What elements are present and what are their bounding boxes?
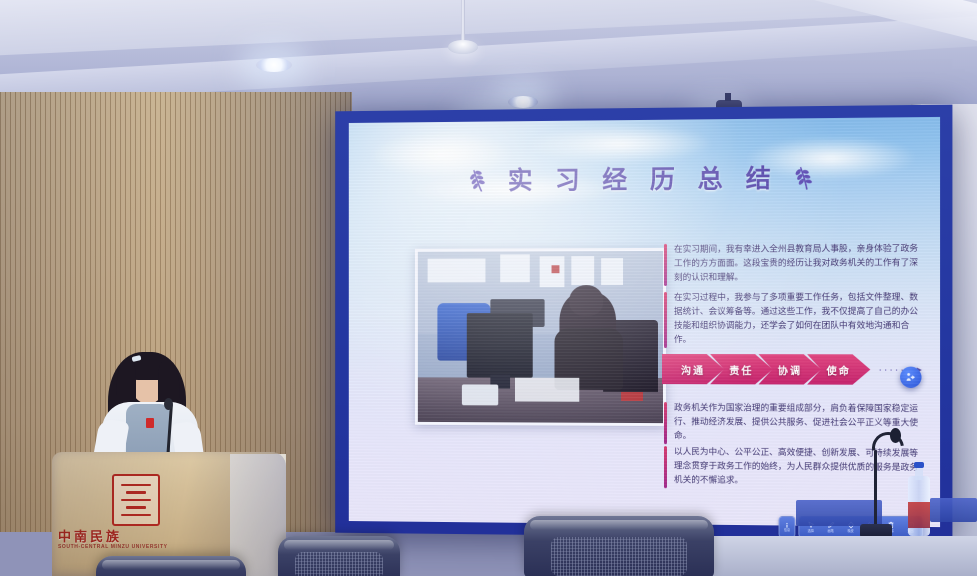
photo-paper — [501, 255, 530, 282]
toolbar-info-button[interactable]: 信息 — [779, 516, 796, 538]
presenter — [96, 346, 206, 466]
bottle-neck — [915, 466, 923, 480]
microphone-capsule — [890, 428, 901, 443]
chair-mesh — [295, 552, 383, 576]
paragraph-accent-bar — [664, 244, 667, 286]
slide-title-text: 实 习 经 历 总 结 — [508, 164, 778, 195]
chair-highlight — [284, 540, 394, 550]
photo-calculator — [462, 385, 499, 406]
photo-paper — [572, 256, 594, 285]
paragraph-accent-bar — [664, 292, 667, 348]
paragraph-accent-bar — [664, 446, 667, 488]
audience-chair — [524, 516, 714, 576]
chair-highlight — [102, 560, 240, 570]
photo-monitor — [466, 313, 532, 378]
ceiling-downlight — [508, 96, 538, 108]
slide-paragraph-1: 在实习期间，我有幸进入全州县教育局人事股，亲身体验了政务工作的方方面面。这段宝贵… — [664, 243, 926, 286]
chair-mesh — [551, 537, 688, 575]
chair-highlight — [530, 520, 708, 530]
slide-title: 实 习 经 历 总 结 — [349, 158, 940, 199]
paragraph-accent-bar — [664, 402, 667, 444]
process-step-label: 使命 — [826, 362, 850, 377]
paragraph-text: 在实习过程中，我参与了多项重要工作任务，包括文件整理、数据统计、会议筹备等。通过… — [674, 292, 926, 348]
paragraph-text: 在实习期间，我有幸进入全州县教育局人事股，亲身体验了政务工作的方方面面。这段宝贵… — [674, 243, 926, 286]
photo-paper — [601, 258, 623, 286]
photo-paper — [428, 258, 486, 282]
photo-desk-paper — [515, 378, 579, 402]
lecture-hall-screenshot: 实 习 经 历 总 结 — [0, 0, 977, 576]
toolbar-item-label: 画笔 — [827, 530, 833, 533]
process-step-label: 协调 — [778, 362, 802, 377]
water-bottle — [908, 462, 930, 536]
toolbar-item-label: 橡皮 — [847, 530, 853, 533]
process-chevron-row: 沟通 责任 协调 使命 ·······▸ — [662, 352, 928, 387]
process-step-label: 责任 — [729, 362, 753, 377]
info-icon[interactable]: 信息 — [780, 518, 795, 536]
bottle-label — [908, 502, 930, 528]
slide-paragraph-2: 在实习过程中，我参与了多项重要工作任务，包括文件整理、数据统计、会议筹备等。通过… — [664, 292, 926, 348]
laurel-left-icon — [466, 165, 490, 199]
screen-share-badge-icon[interactable] — [900, 367, 922, 388]
audience-chair — [278, 536, 400, 576]
process-step-label: 沟通 — [681, 362, 705, 377]
pendant-light-rod — [461, 0, 465, 42]
presenter-badge — [146, 418, 154, 428]
photo-red-accent — [552, 265, 559, 274]
pendant-light-head — [448, 40, 478, 54]
ceiling-downlight — [256, 58, 292, 72]
podium-microphone-head — [164, 398, 173, 410]
desk-nameplate-secondary — [930, 498, 977, 522]
audience-chair — [96, 556, 246, 576]
gooseneck-microphone — [854, 428, 900, 536]
projection-screen[interactable]: 实 习 经 历 总 结 — [349, 117, 940, 527]
laurel-right-icon — [792, 162, 817, 197]
photo-red-accent — [621, 392, 643, 401]
bottle-cap — [914, 462, 924, 468]
slide-photo-office — [415, 248, 666, 426]
toolbar-item-label: 信息 — [784, 529, 790, 532]
toolbar-item-label: 选择 — [808, 530, 814, 533]
front-desk-surface — [700, 536, 977, 576]
photo-person-head — [569, 285, 603, 316]
